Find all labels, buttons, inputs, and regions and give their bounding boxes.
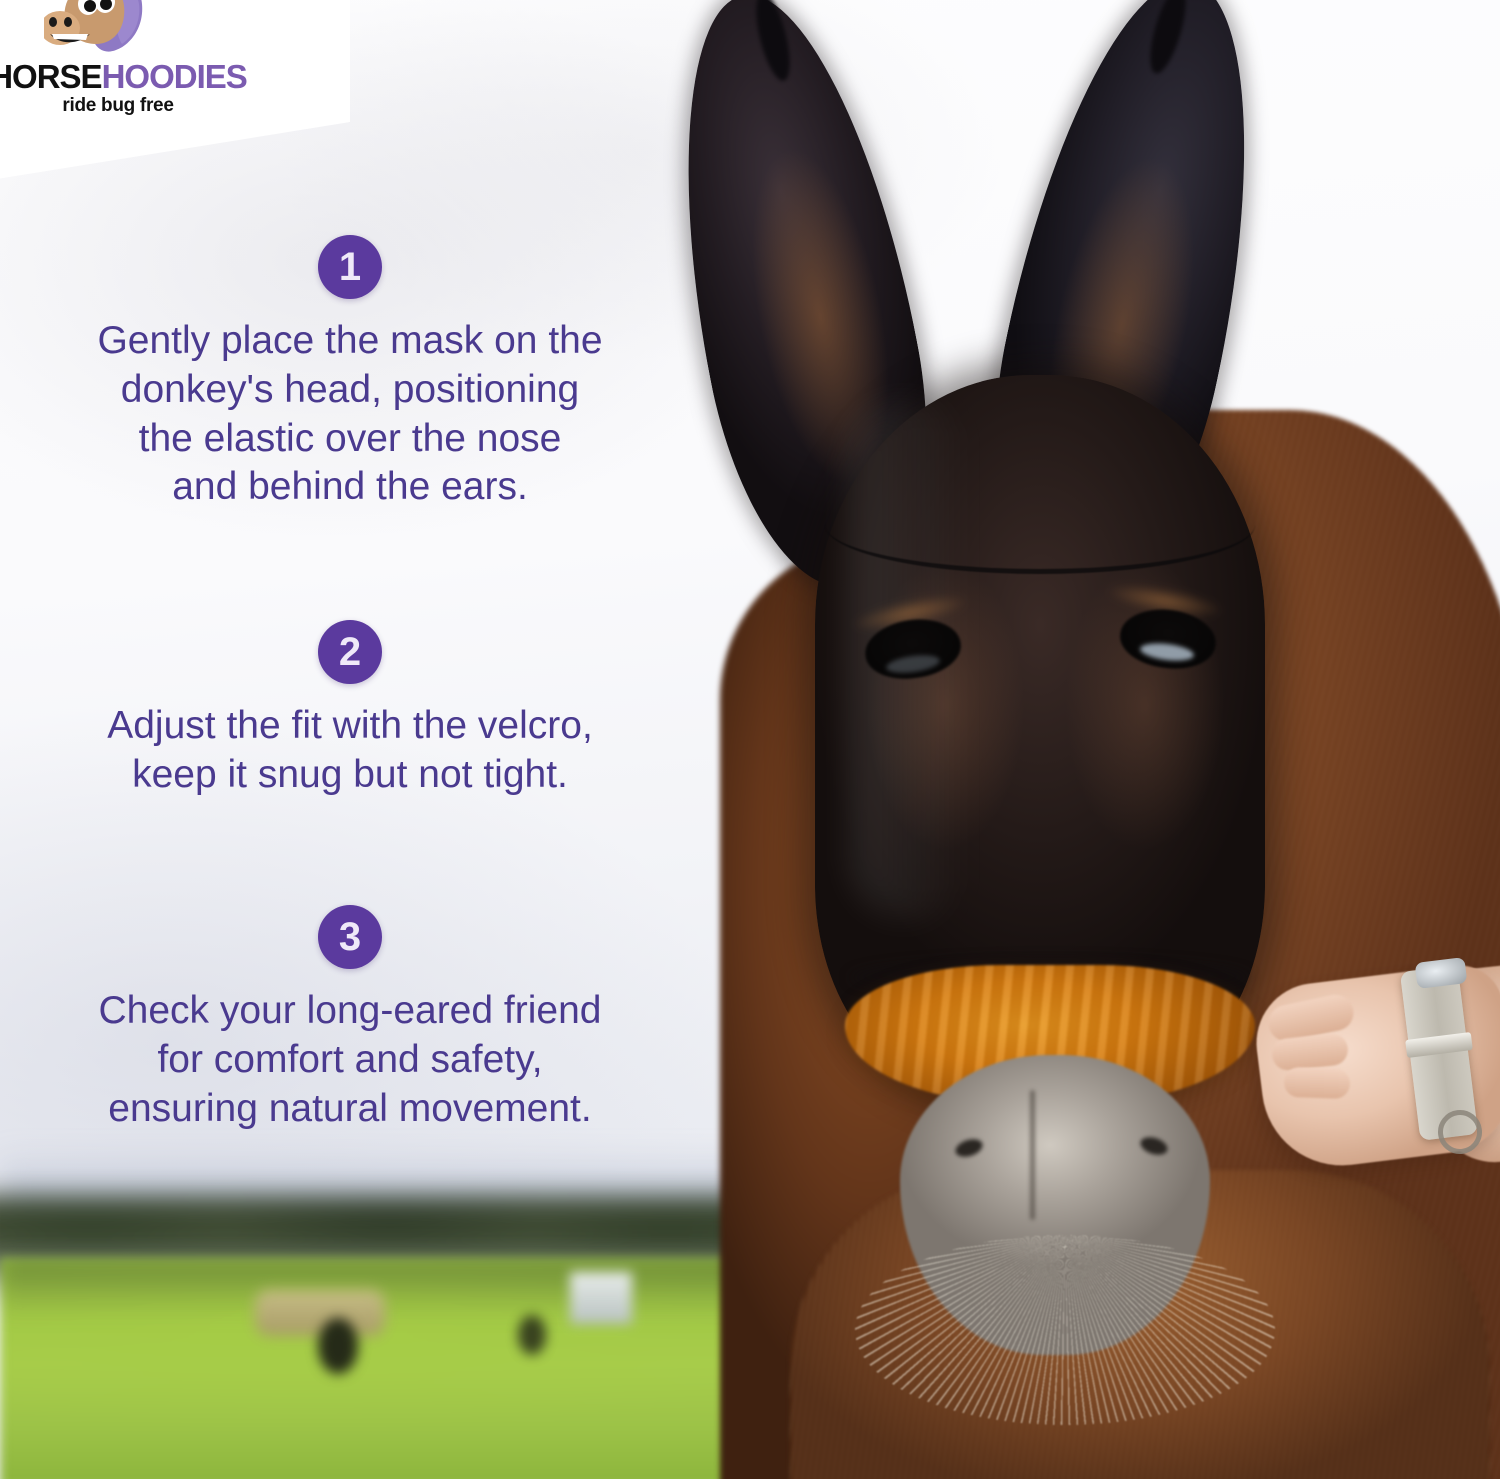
step-1-badge: 1: [318, 235, 382, 299]
step-3: 3 Check your long-eared friend for comfo…: [0, 905, 700, 1133]
step-3-number: 3: [339, 917, 361, 957]
instruction-steps: 1 Gently place the mask on the donkey's …: [0, 0, 720, 1479]
whiskers: [855, 1235, 1275, 1425]
step-2-number: 2: [339, 632, 361, 672]
step-2-badge: 2: [318, 620, 382, 684]
donkey: [600, 0, 1500, 1479]
step-1-number: 1: [339, 247, 361, 287]
muzzle-crease: [1030, 1090, 1035, 1220]
step-1: 1 Gently place the mask on the donkey's …: [0, 235, 700, 512]
step-3-badge: 3: [318, 905, 382, 969]
finger: [1283, 1067, 1350, 1099]
step-1-text: Gently place the mask on the donkey's he…: [0, 317, 700, 512]
step-3-text: Check your long-eared friend for comfort…: [0, 987, 700, 1133]
step-2: 2 Adjust the fit with the velcro, keep i…: [0, 620, 700, 800]
step-2-text: Adjust the fit with the velcro, keep it …: [0, 702, 700, 800]
infographic-root: HORSEHOODIES ride bug free 1 Gently plac…: [0, 0, 1500, 1479]
